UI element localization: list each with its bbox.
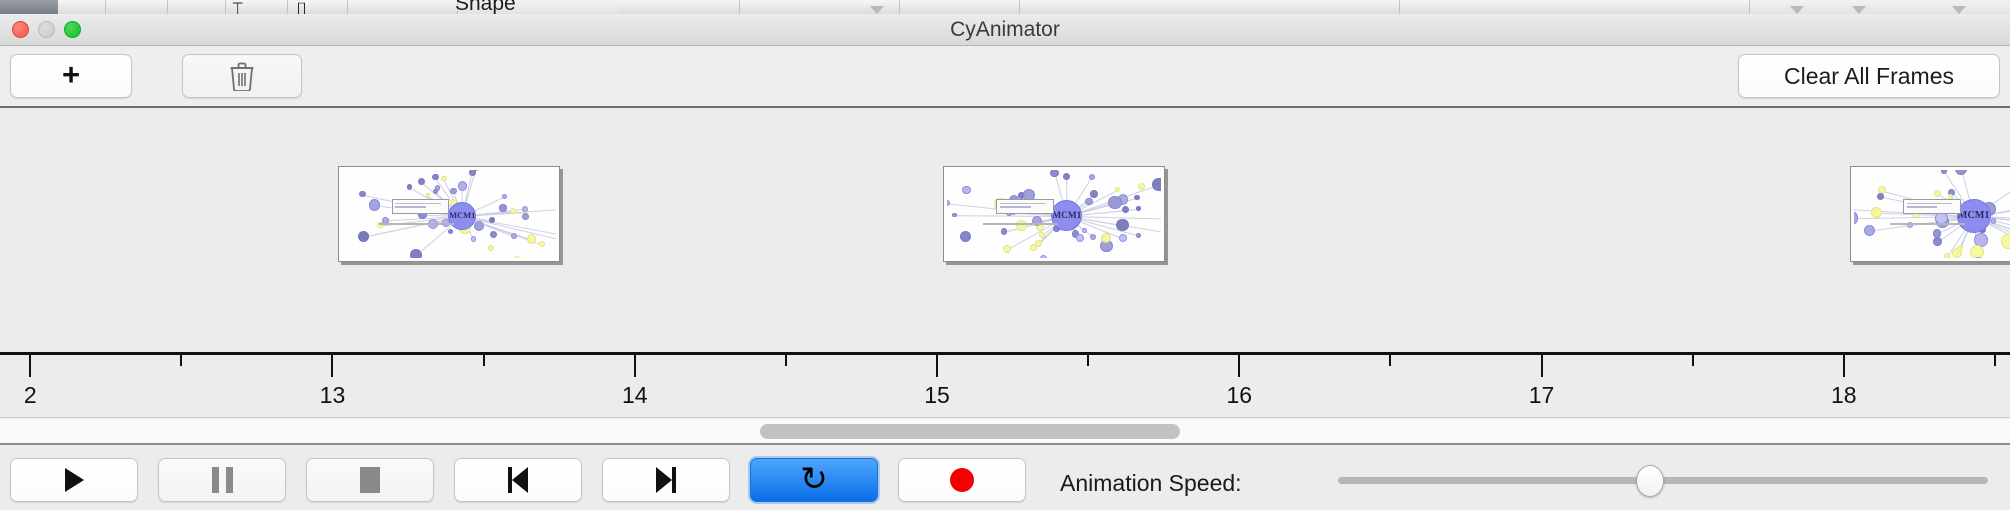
network-node — [1955, 170, 1967, 175]
network-node — [358, 231, 370, 243]
axis-tick-major — [1238, 355, 1240, 377]
axis-tick-minor — [1692, 355, 1694, 366]
network-node — [474, 221, 484, 231]
delete-frame-button[interactable] — [182, 54, 302, 98]
axis-tick-label: 18 — [1814, 382, 1874, 409]
network-node — [514, 256, 520, 258]
network-node — [1108, 196, 1121, 209]
network-annotation-box — [996, 199, 1054, 214]
network-node — [448, 229, 453, 234]
network-node — [527, 234, 536, 243]
network-node — [359, 191, 365, 197]
play-button[interactable] — [10, 458, 138, 502]
cyanimator-window: ⌶ ⌷ Shape CyAnimator + Clear — [0, 0, 2010, 510]
animation-speed-slider-knob[interactable] — [1636, 465, 1664, 497]
network-node — [1933, 229, 1942, 238]
network-node — [1854, 211, 1858, 224]
axis-tick-label: 17 — [1512, 382, 1572, 409]
network-caption — [379, 223, 454, 225]
network-node — [1970, 245, 1984, 258]
axis-tick-label: 13 — [302, 382, 362, 409]
network-node — [1063, 173, 1070, 180]
title-bar: CyAnimator — [0, 14, 2010, 46]
background-window-label: Shape — [455, 0, 516, 14]
axis-tick-minor — [483, 355, 485, 366]
network-node — [1115, 187, 1120, 192]
network-node — [947, 200, 950, 207]
network-node — [369, 199, 381, 211]
network-node — [1090, 190, 1098, 198]
axis-tick-major — [331, 355, 333, 377]
network-node — [1035, 240, 1042, 247]
axis-tick-label: 16 — [1209, 382, 1269, 409]
axis-tick-label: 15 — [907, 382, 967, 409]
network-view: MCM1 — [342, 170, 556, 258]
network-node — [407, 184, 412, 189]
network-node — [1957, 245, 1963, 251]
record-icon — [950, 468, 974, 492]
network-node — [1134, 195, 1139, 200]
skip-end-button[interactable] — [602, 458, 730, 502]
network-node — [499, 204, 506, 211]
plus-icon: + — [62, 59, 80, 90]
network-node — [962, 186, 970, 194]
clear-all-frames-label: Clear All Frames — [1784, 63, 1954, 90]
network-node — [1944, 253, 1950, 258]
network-node — [1122, 206, 1129, 213]
network-node — [2001, 234, 2010, 248]
network-node — [490, 231, 497, 238]
timeline-scrollbar-thumb[interactable] — [760, 424, 1180, 439]
axis-tick-minor — [1087, 355, 1089, 366]
axis-tick-major — [936, 355, 938, 377]
record-button[interactable] — [898, 458, 1026, 502]
network-node — [1877, 193, 1884, 200]
skip-start-button[interactable] — [454, 458, 582, 502]
network-node — [1136, 233, 1141, 238]
network-node — [1090, 234, 1096, 240]
network-node — [410, 249, 422, 258]
loop-button[interactable]: ↻ — [750, 458, 878, 502]
network-node — [1871, 207, 1882, 218]
network-node — [1003, 245, 1011, 253]
network-node — [1082, 228, 1087, 233]
skip-forward-icon — [656, 467, 676, 493]
network-node — [511, 233, 517, 239]
network-hub-node: MCM1 — [1957, 199, 1991, 233]
network-node — [1948, 194, 1953, 199]
network-node — [433, 189, 438, 194]
window-title: CyAnimator — [0, 14, 2010, 46]
network-node — [441, 176, 447, 182]
network-node — [1119, 234, 1127, 242]
pause-icon — [212, 467, 233, 493]
network-hub-node: MCM1 — [448, 202, 476, 230]
axis-tick-label: 14 — [605, 382, 665, 409]
network-node — [1991, 218, 1996, 223]
axis-tick-minor — [785, 355, 787, 366]
network-node — [1864, 225, 1875, 236]
axis-tick-major — [1843, 355, 1845, 377]
network-node — [1089, 174, 1095, 180]
axis-tick-minor — [180, 355, 182, 366]
network-node — [1076, 234, 1084, 242]
network-node — [1941, 170, 1947, 174]
network-node — [450, 188, 457, 195]
axis-tick-minor — [1994, 355, 1996, 366]
network-annotation-box — [392, 199, 450, 214]
trash-icon — [229, 61, 255, 91]
skip-back-icon — [508, 467, 528, 493]
axis-tick-minor — [1389, 355, 1391, 366]
network-node — [522, 206, 528, 212]
network-node — [539, 241, 545, 247]
timeline-frame-thumbnail[interactable]: MCM1 — [943, 166, 1165, 262]
stop-button[interactable] — [306, 458, 434, 502]
network-node — [1933, 237, 1942, 246]
background-window-strip: ⌶ ⌷ Shape — [0, 0, 2010, 14]
network-node — [1972, 257, 1984, 258]
pause-button[interactable] — [158, 458, 286, 502]
network-caption — [1890, 223, 1965, 225]
timeline-frame-thumbnail[interactable]: MCM1 — [338, 166, 560, 262]
timeline-axis — [0, 352, 2010, 355]
timeline-frame-thumbnail[interactable]: MCM1 — [1850, 166, 2010, 262]
network-node — [1085, 198, 1092, 205]
network-node — [1016, 220, 1027, 231]
network-node — [1040, 255, 1047, 258]
network-view: MCM1 — [947, 170, 1161, 258]
network-node — [1136, 206, 1141, 211]
network-node — [522, 213, 529, 220]
network-node — [1116, 219, 1129, 232]
network-node — [458, 181, 468, 191]
network-annotation-box — [1903, 199, 1961, 214]
axis-tick-major — [634, 355, 636, 377]
network-node — [471, 236, 476, 241]
network-node — [1039, 232, 1044, 237]
axis-tick-major — [1541, 355, 1543, 377]
network-node — [1152, 178, 1161, 192]
network-node — [502, 194, 507, 199]
animation-speed-label: Animation Speed: — [1060, 470, 1242, 497]
loop-icon: ↻ — [800, 462, 828, 495]
network-node — [488, 245, 494, 251]
network-node — [432, 174, 438, 180]
add-frame-button[interactable]: + — [10, 54, 132, 98]
network-view: MCM1 — [1854, 170, 2010, 258]
network-node — [960, 231, 971, 242]
timeline-panel[interactable]: MCM1MCM1MCM1 2131415161718 Seconds — [0, 110, 2010, 418]
axis-tick-label: 2 — [0, 382, 60, 409]
play-icon — [65, 468, 84, 492]
clear-all-frames-button[interactable]: Clear All Frames — [1738, 54, 2000, 98]
axis-tick-major — [29, 355, 31, 377]
network-node — [469, 170, 476, 176]
network-node — [952, 213, 957, 218]
network-node — [1001, 228, 1007, 234]
stop-icon — [360, 467, 380, 493]
network-caption — [983, 223, 1058, 225]
network-node — [1050, 170, 1059, 177]
